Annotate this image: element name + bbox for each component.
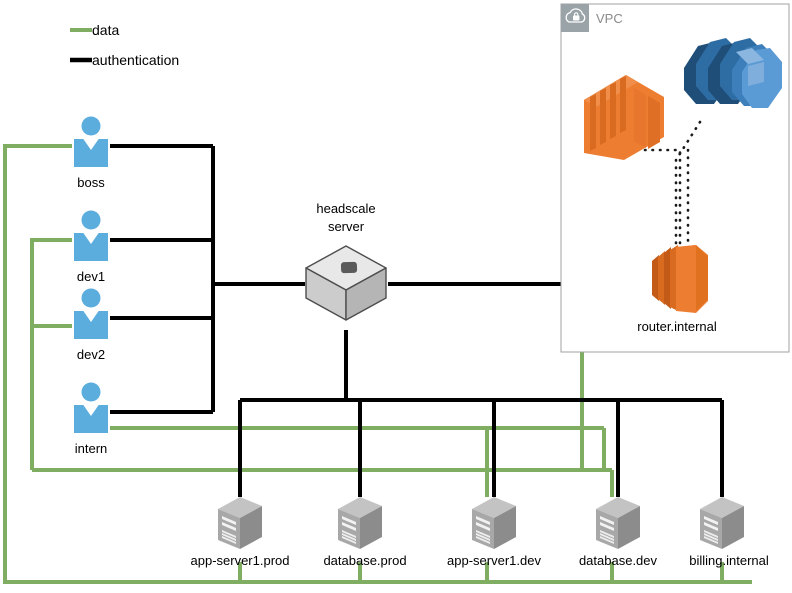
- legend-label-authentication: authentication: [92, 52, 179, 68]
- data-link-dev1: [32, 240, 72, 470]
- diagram-canvas: data authentication VPC r: [0, 0, 792, 593]
- host-label-database-dev: database.dev: [579, 553, 658, 568]
- server-icon-billing-internal[interactable]: [700, 497, 744, 549]
- user-label-intern: intern: [75, 441, 108, 456]
- server-icon-app-server1-dev[interactable]: [472, 497, 516, 549]
- user-icon-dev1[interactable]: [74, 211, 108, 262]
- legend-label-data: data: [92, 22, 119, 38]
- host-label-app-server1-prod: app-server1.prod: [191, 553, 290, 568]
- server-icon-database-dev[interactable]: [596, 497, 640, 549]
- headscale-label-line2: server: [328, 219, 365, 234]
- user-label-dev1: dev1: [77, 269, 105, 284]
- legend: data authentication: [70, 22, 179, 68]
- cube-icon[interactable]: [306, 246, 386, 320]
- vpc-title: VPC: [596, 11, 623, 26]
- aws-instance-stack-icon[interactable]: [684, 38, 782, 108]
- network-diagram: data authentication VPC r: [0, 0, 792, 593]
- vpc-node-label-router: router.internal: [637, 319, 717, 334]
- user-icon-boss[interactable]: [74, 117, 108, 168]
- host-label-database-prod: database.prod: [323, 553, 406, 568]
- host-label-app-server1-dev: app-server1.dev: [447, 553, 541, 568]
- user-icon-dev2[interactable]: [74, 289, 108, 340]
- user-label-dev2: dev2: [77, 347, 105, 362]
- user-label-boss: boss: [77, 175, 105, 190]
- server-icon-app-server1-prod[interactable]: [218, 497, 262, 549]
- headscale-label-line1: headscale: [316, 201, 375, 216]
- server-icon-database-prod[interactable]: [338, 497, 382, 549]
- host-label-billing-internal: billing.internal: [689, 553, 769, 568]
- user-icon-intern[interactable]: [74, 383, 108, 434]
